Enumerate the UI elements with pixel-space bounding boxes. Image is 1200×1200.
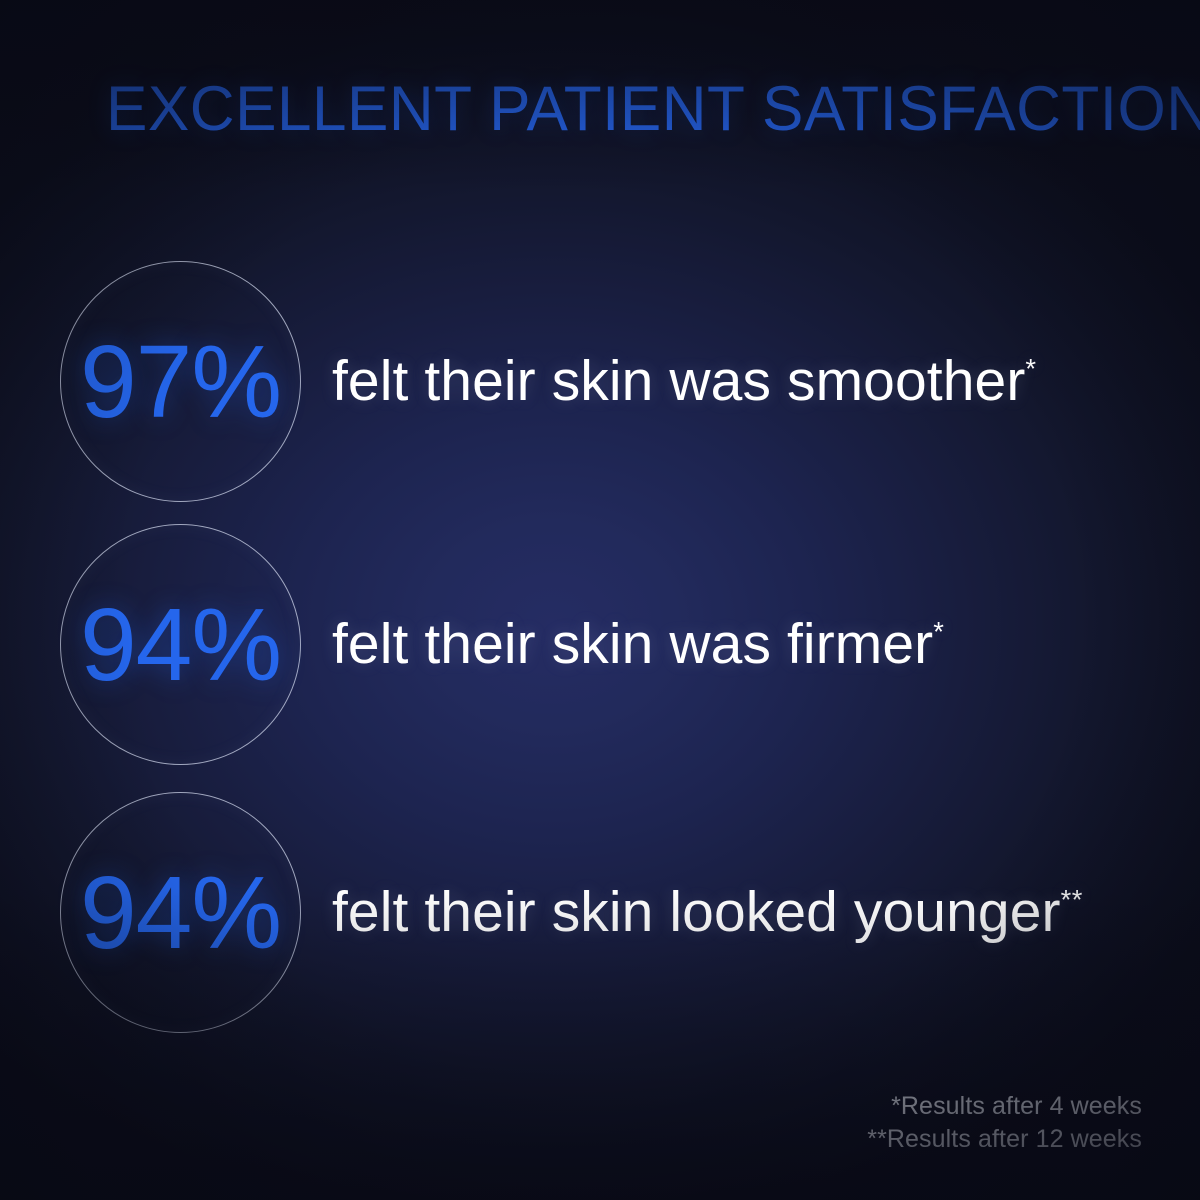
page-title: EXCELLENT PATIENT SATISFACTION bbox=[106, 78, 1091, 141]
footnotes: *Results after 4 weeks **Results after 1… bbox=[867, 1090, 1142, 1156]
footnote-line-2: **Results after 12 weeks bbox=[867, 1123, 1142, 1156]
stat-statement-text: felt their skin looked younger bbox=[332, 883, 1061, 943]
stat-row: 97% felt their skin was smoother* bbox=[0, 261, 1200, 503]
footnote-marker: ** bbox=[1061, 886, 1083, 915]
stat-statement: felt their skin was smoother* bbox=[332, 261, 1037, 502]
stat-percent-value: 97% bbox=[61, 261, 300, 502]
stat-percent-value: 94% bbox=[61, 524, 300, 765]
footnote-marker: * bbox=[933, 618, 944, 647]
stat-percent-value: 94% bbox=[61, 792, 300, 1033]
satisfaction-infographic: EXCELLENT PATIENT SATISFACTION 97% felt … bbox=[0, 0, 1200, 1200]
stat-statement: felt their skin looked younger** bbox=[332, 792, 1083, 1033]
footnote-marker: * bbox=[1025, 355, 1036, 384]
footnote-line-1: *Results after 4 weeks bbox=[867, 1090, 1142, 1123]
stat-statement: felt their skin was firmer* bbox=[332, 524, 944, 765]
stat-row: 94% felt their skin looked younger** bbox=[0, 792, 1200, 1034]
stat-row: 94% felt their skin was firmer* bbox=[0, 524, 1200, 766]
stat-statement-text: felt their skin was smoother bbox=[332, 352, 1025, 412]
stat-statement-text: felt their skin was firmer bbox=[332, 615, 933, 675]
